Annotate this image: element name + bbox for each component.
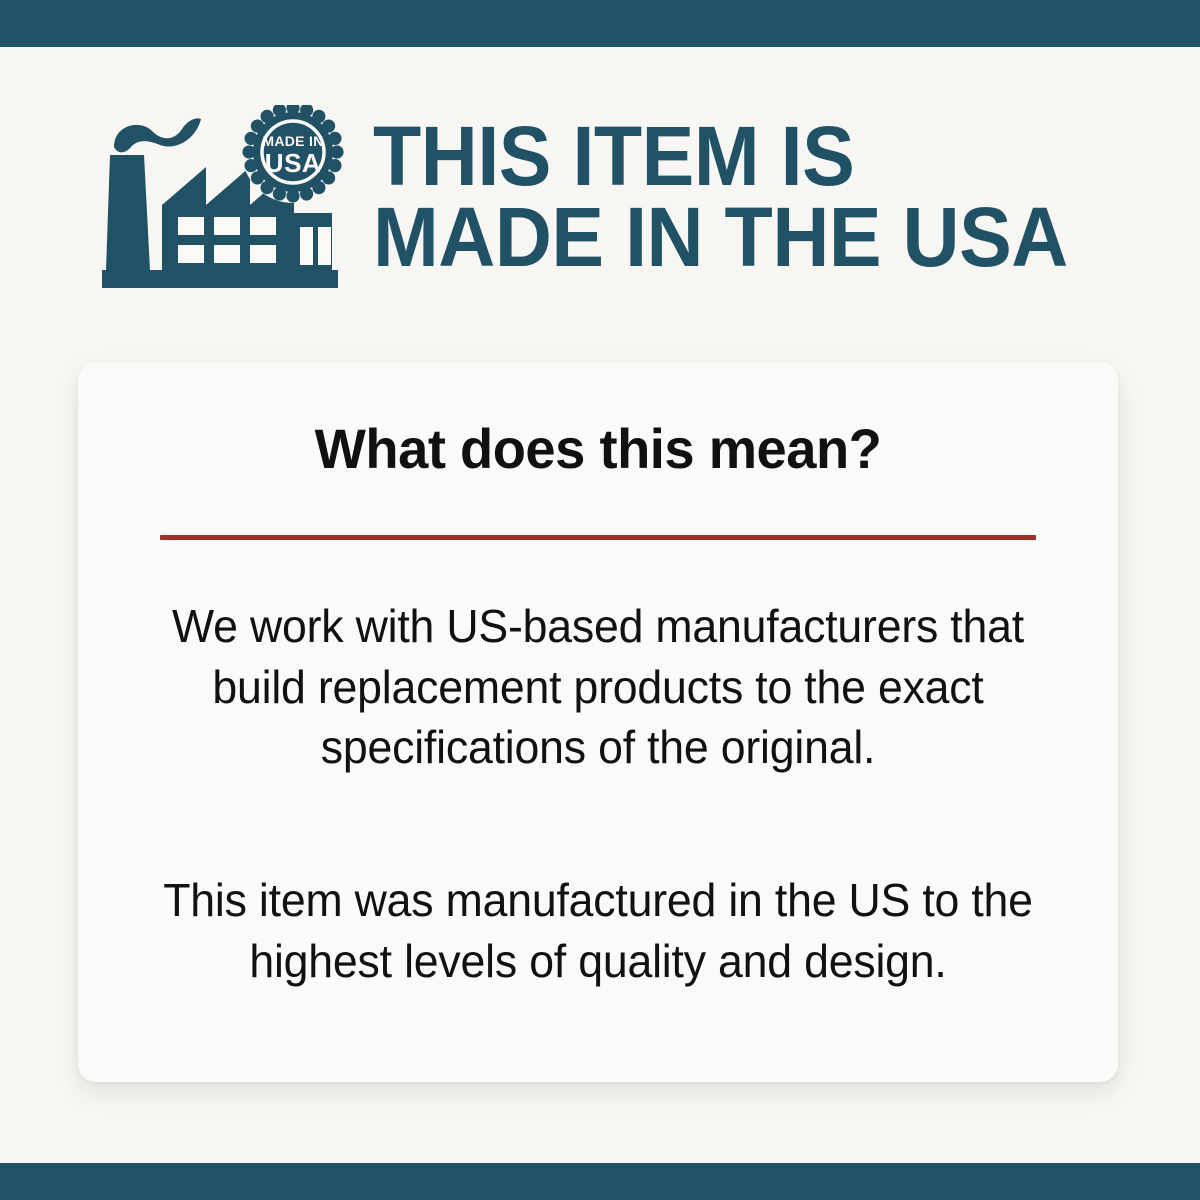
title-divider <box>160 535 1036 540</box>
card-title: What does this mean? <box>94 420 1103 479</box>
headline-line-2: MADE IN THE USA <box>373 197 1068 278</box>
bottom-accent-band <box>0 1163 1200 1200</box>
card-paragraph-2: This item was manufactured in the US to … <box>144 870 1052 991</box>
banner-headline: THIS ITEM IS MADE IN THE USA <box>373 116 1068 277</box>
svg-text:MADE IN: MADE IN <box>262 133 323 149</box>
top-accent-band <box>0 0 1200 47</box>
explanation-card: What does this mean? We work with US-bas… <box>78 362 1118 1082</box>
headline-line-1: THIS ITEM IS <box>373 116 1068 197</box>
svg-text:USA: USA <box>265 148 321 178</box>
banner-header: MADE IN USA THIS ITEM IS MADE IN THE USA <box>0 47 1200 347</box>
card-paragraph-1: We work with US-based manufacturers that… <box>144 596 1052 778</box>
made-in-usa-badge-icon: MADE IN USA <box>242 105 344 203</box>
factory-icon: MADE IN USA <box>100 105 345 295</box>
card-body: We work with US-based manufacturers that… <box>78 596 1118 992</box>
